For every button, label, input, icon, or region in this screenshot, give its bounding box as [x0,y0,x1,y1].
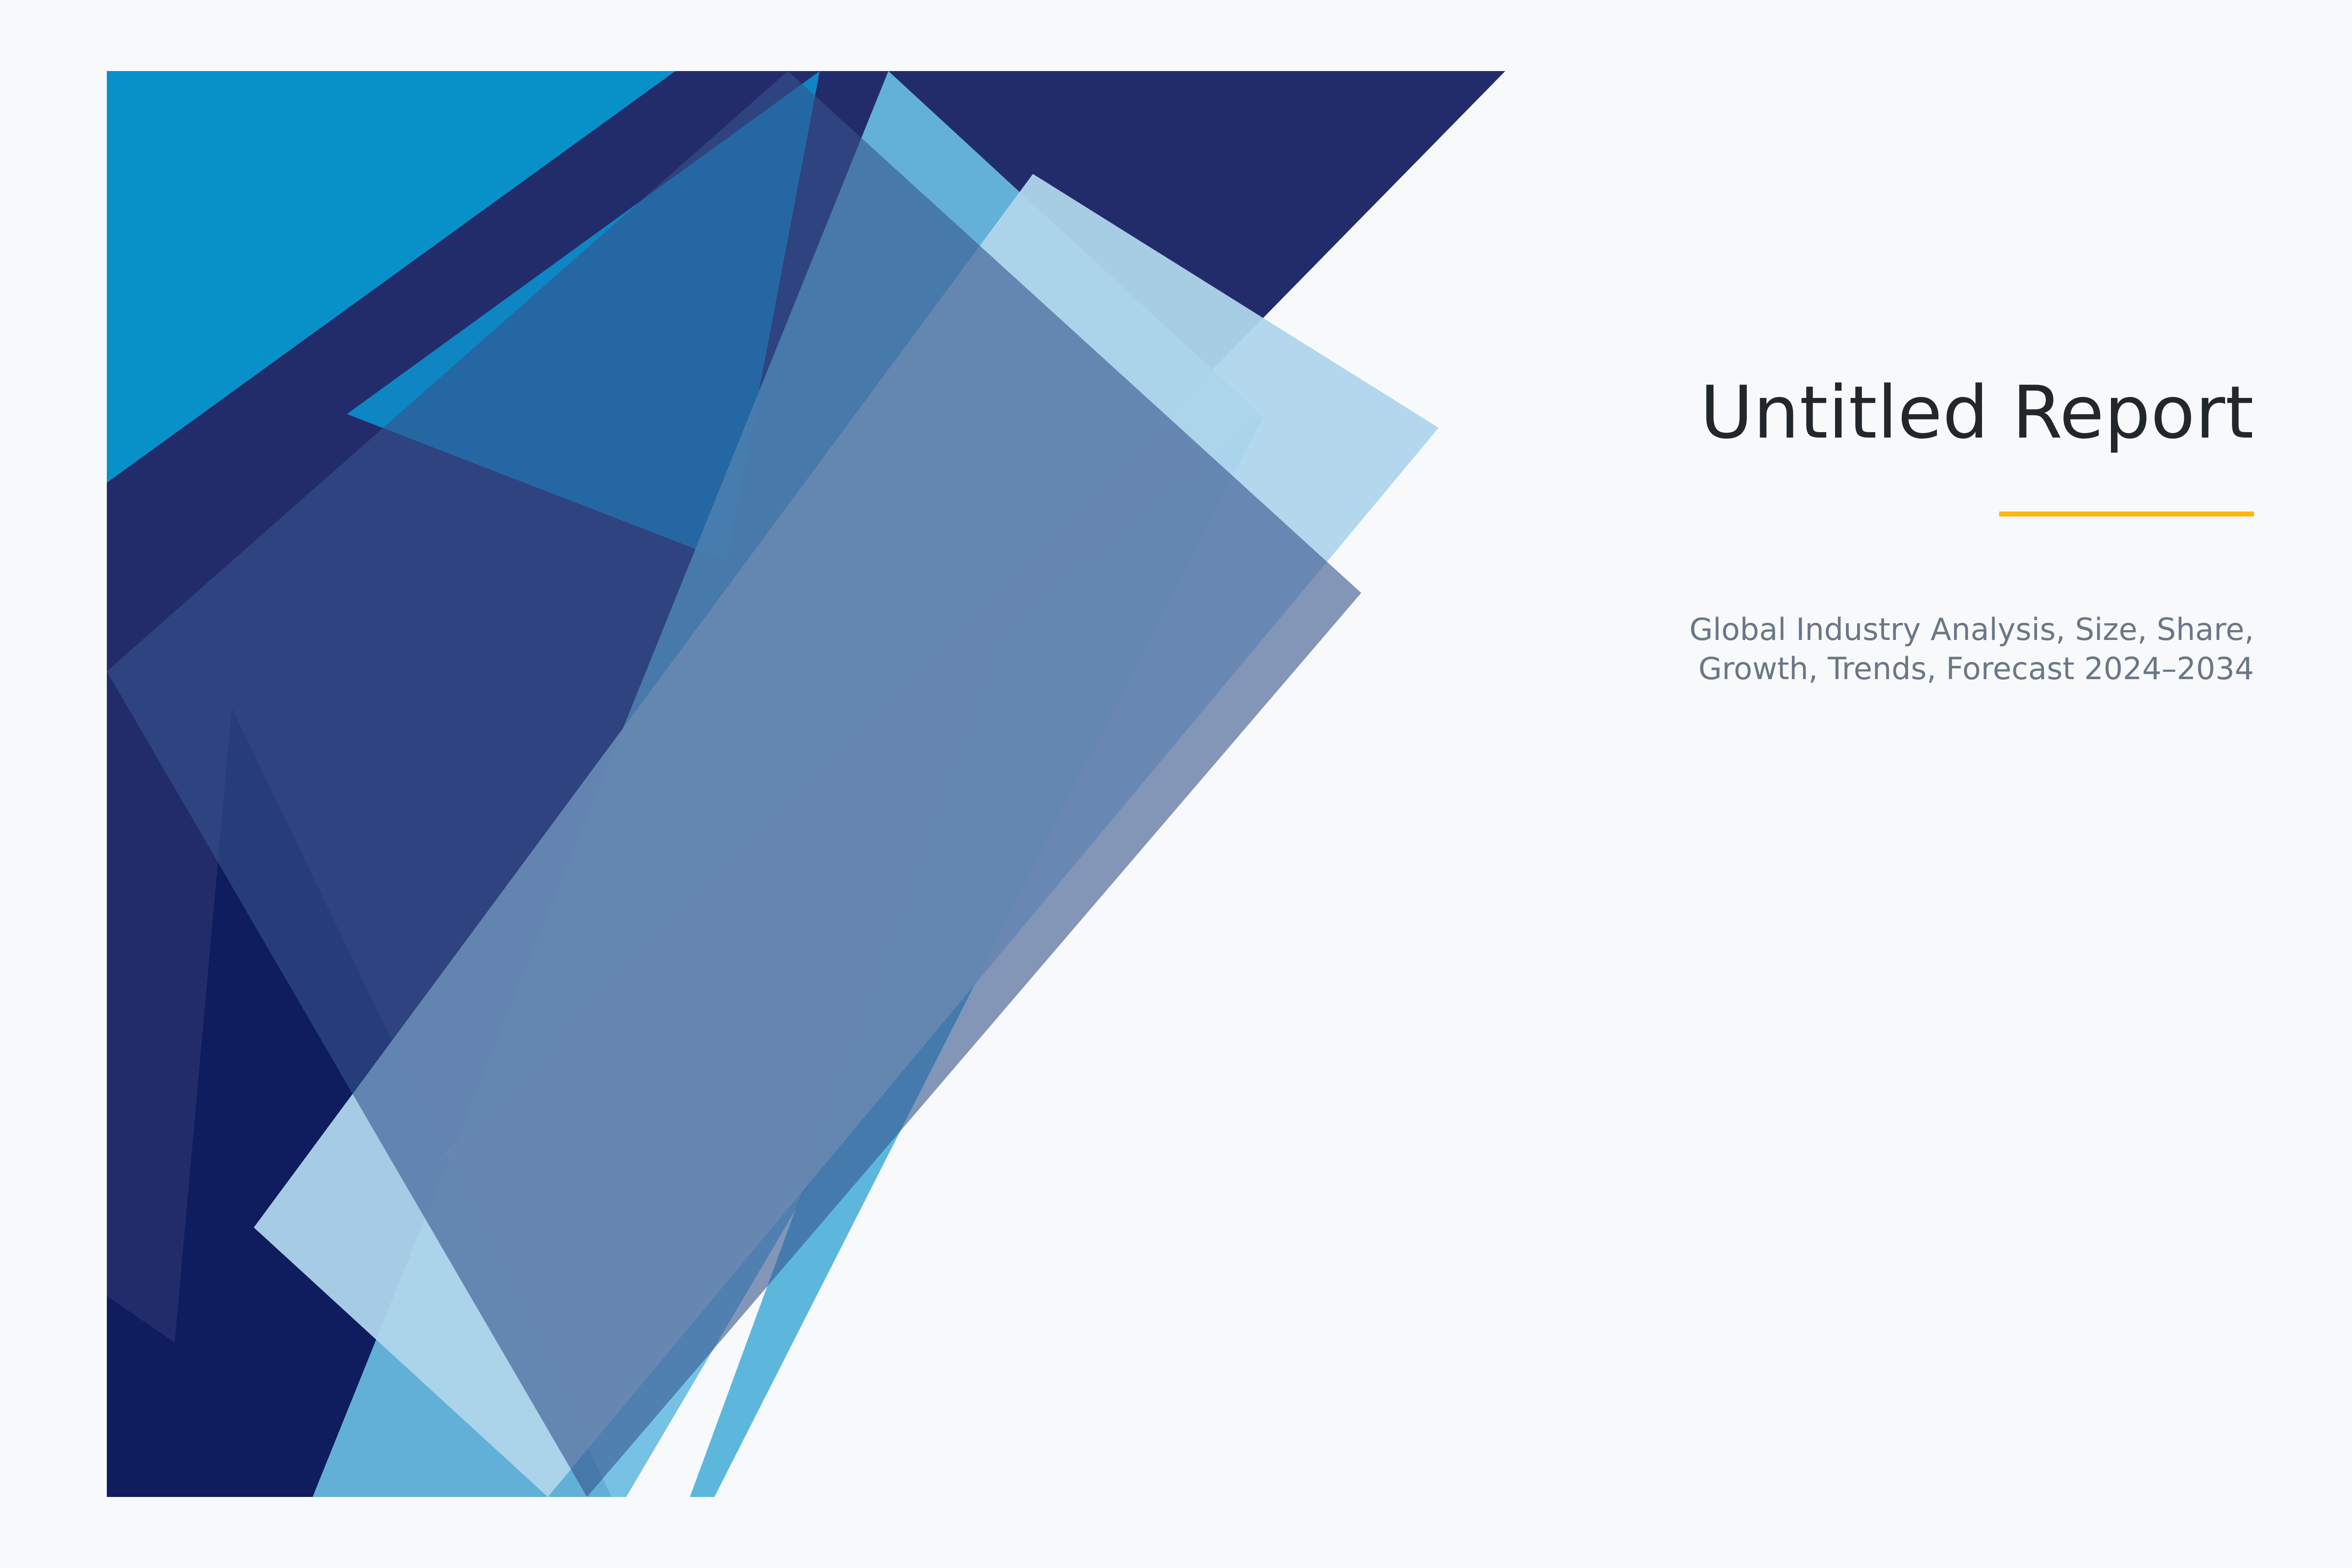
page-title: Untitled Report [1617,372,2254,454]
page-subtitle: Global Industry Analysis, Size, Share, G… [1617,610,2254,689]
report-cover-page: Untitled Report Global Industry Analysis… [0,0,2352,1568]
accent-rule-wrapper [1617,512,2254,521]
accent-rule [1999,512,2254,516]
abstract-geometric-cover-graphic [107,71,1508,1497]
cover-text-block: Untitled Report Global Industry Analysis… [1617,372,2254,689]
